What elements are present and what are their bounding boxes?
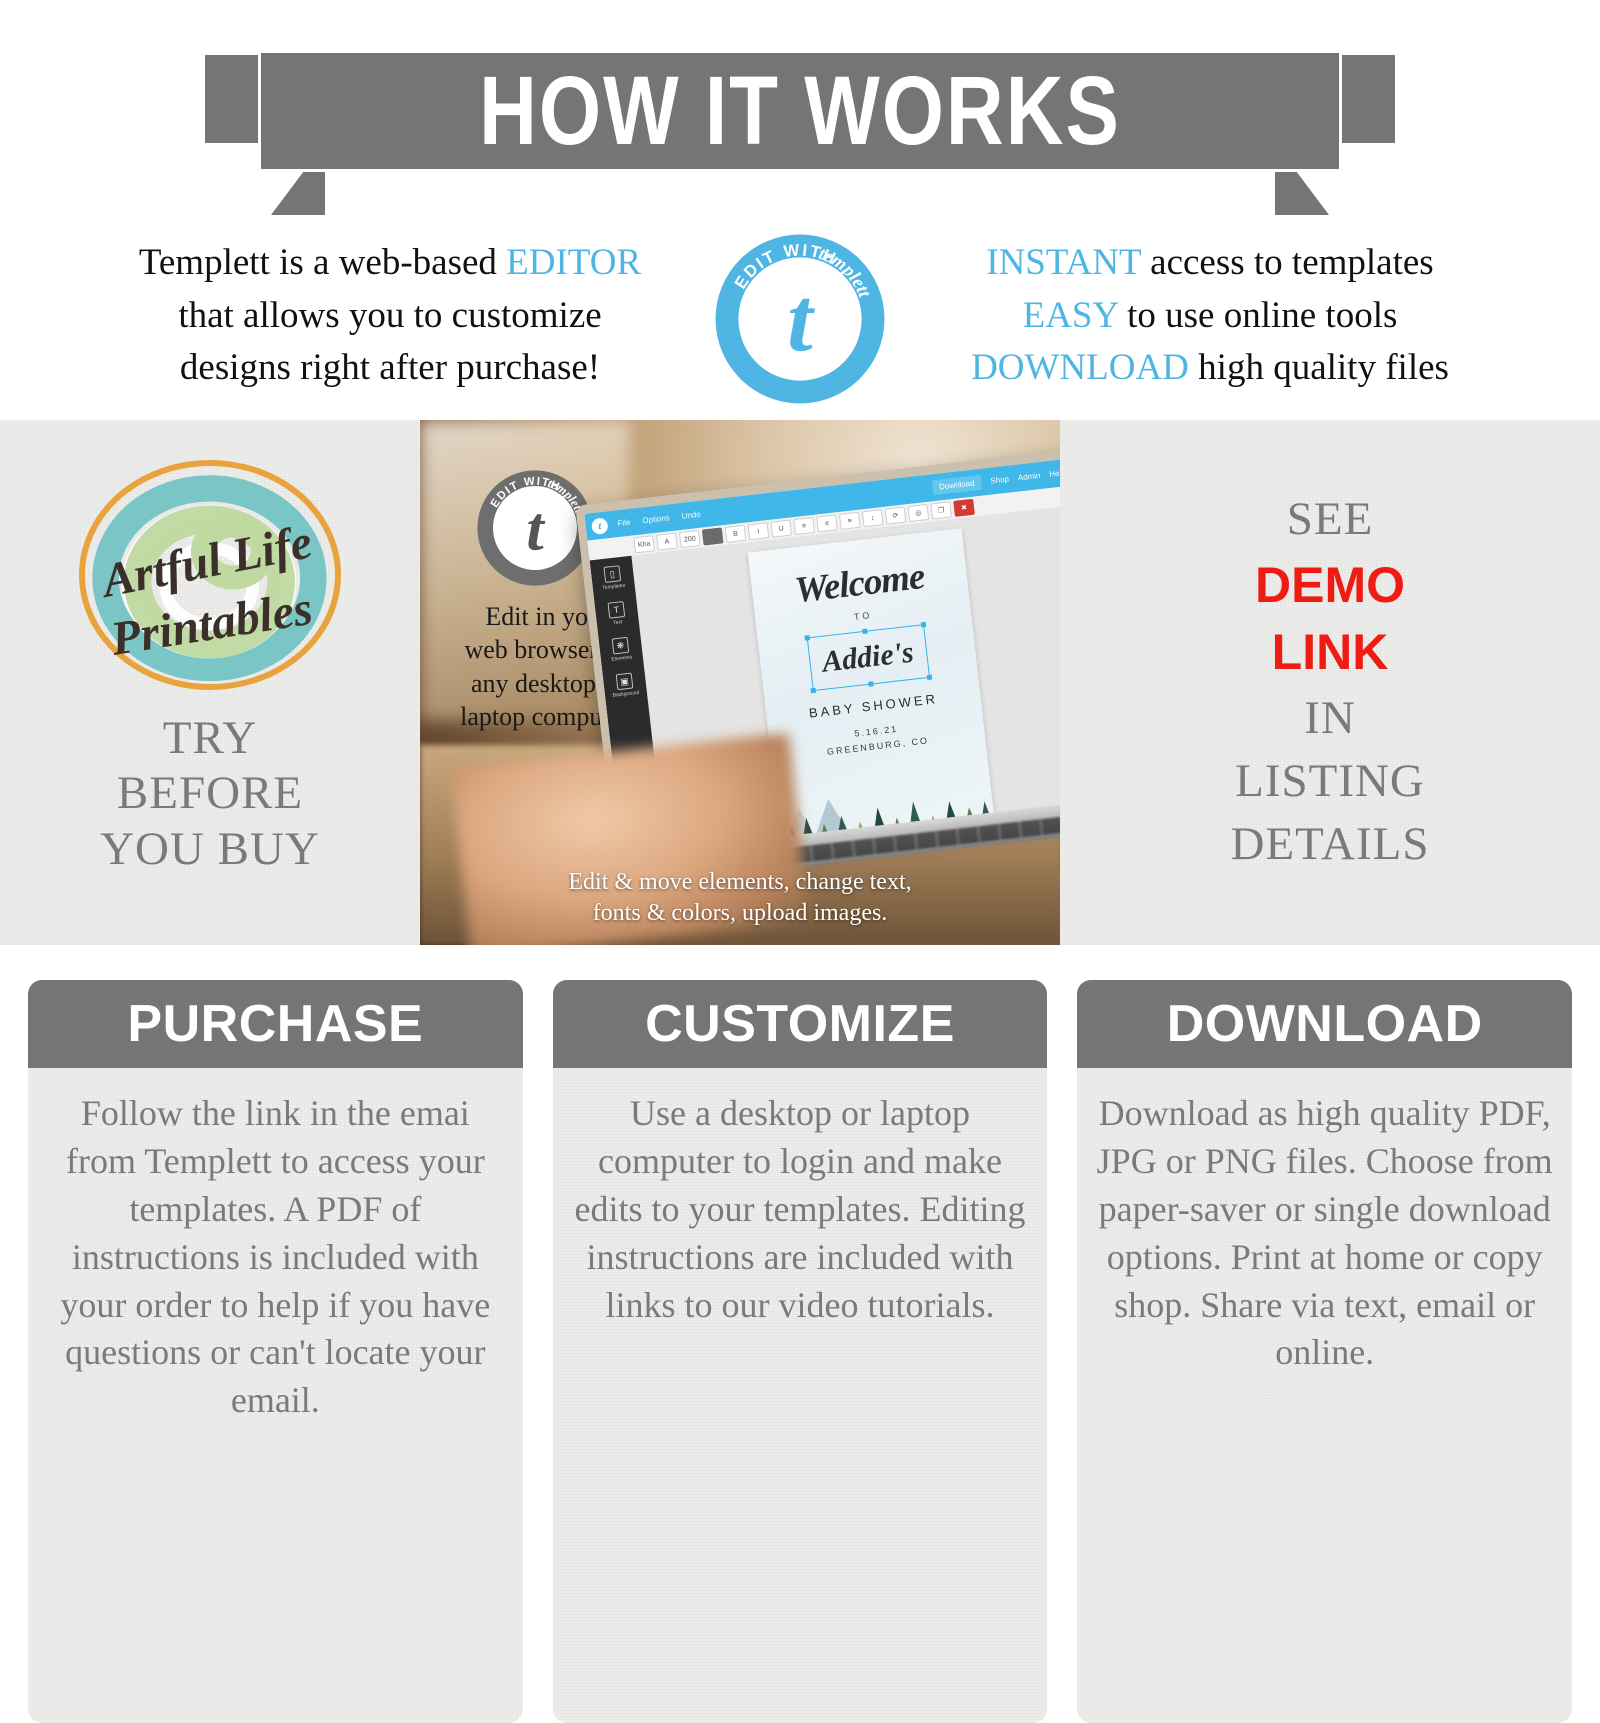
intro-left-line1: Templett is a web-based EDITOR — [80, 237, 700, 290]
sidebar-item-text[interactable]: T Text — [608, 601, 627, 627]
intro-right-line3-highlight: DOWNLOAD — [971, 347, 1189, 388]
try-line-1: TRY — [100, 711, 320, 766]
how-it-works-banner: HOW IT WORKS — [0, 0, 1600, 215]
sidebar-item-background[interactable]: ▣ Background — [610, 672, 639, 699]
step-body-purchase: Follow the link in the emai from Templet… — [28, 1068, 523, 1723]
editor-menu[interactable]: File Options Undo — [617, 510, 701, 528]
intro-left-line1-pre: Templett is a web-based — [139, 242, 506, 283]
font-size-input[interactable]: 200 — [679, 530, 701, 548]
brand-column: Artful Life Printables TRY BEFORE YOU BU… — [0, 420, 420, 945]
background-icon: ▣ — [616, 673, 634, 691]
step-title-customize: CUSTOMIZE — [645, 994, 955, 1054]
sidebar-label-templates: Templates — [602, 583, 625, 592]
try-line-2: BEFORE — [100, 766, 320, 821]
demo-line-demo: DEMO — [1255, 552, 1405, 620]
sidebar-item-templates[interactable]: ▯ Templates — [600, 565, 625, 591]
step-header-purchase: PURCHASE — [28, 980, 523, 1068]
intro-right-line2: EASY to use online tools — [900, 290, 1520, 343]
editor-logo-icon: t — [591, 517, 609, 535]
photo-caption-bottom: Edit & move elements, change text, fonts… — [480, 867, 1000, 929]
card-name-text: Addie's — [807, 625, 928, 690]
demo-line-in: IN — [1304, 687, 1356, 750]
text-icon: T — [608, 601, 626, 619]
intro-right-line3: DOWNLOAD high quality files — [900, 342, 1520, 395]
try-line-3: YOU BUY — [100, 822, 320, 877]
italic-button[interactable]: I — [748, 522, 770, 540]
demo-line-link: LINK — [1272, 619, 1389, 687]
color-swatch[interactable] — [702, 527, 724, 545]
step-card-customize: CUSTOMIZE Use a desktop or laptop comput… — [553, 980, 1048, 1723]
elements-icon: ❋ — [612, 637, 630, 655]
intro-left-text: Templett is a web-based EDITOR that allo… — [80, 215, 700, 395]
opacity-icon[interactable]: ◎ — [908, 504, 930, 522]
step-card-download: DOWNLOAD Download as high quality PDF, J… — [1077, 980, 1572, 1723]
templett-badge-icon: EDIT WITH templett EDITABLE TEMPLATE t — [712, 231, 888, 407]
align-right-icon[interactable]: ≡ — [839, 512, 861, 530]
underline-button[interactable]: U — [770, 520, 792, 538]
step-title-purchase: PURCHASE — [127, 994, 423, 1054]
intro-right-line1: INSTANT access to templates — [900, 237, 1520, 290]
templett-badge-slot: EDIT WITH templett EDITABLE TEMPLATE t — [700, 215, 900, 407]
align-left-icon[interactable]: ≡ — [793, 517, 815, 535]
svg-text:t: t — [526, 495, 545, 564]
try-before-you-buy: TRY BEFORE YOU BUY — [100, 711, 320, 877]
photo-bottom-caption-line2: fonts & colors, upload images. — [480, 898, 1000, 929]
nav-shop[interactable]: Shop — [990, 475, 1010, 486]
download-button[interactable]: Download — [931, 475, 982, 496]
intro-right-line3-rest: high quality files — [1189, 347, 1449, 388]
artful-life-printables-logo: Artful Life Printables — [70, 455, 350, 705]
step-title-download: DOWNLOAD — [1167, 994, 1483, 1054]
demo-line-details: DETAILS — [1230, 813, 1429, 876]
svg-text:t: t — [787, 269, 815, 371]
laptop-photo: EDIT WITH templett EDITABLE TEMPLATE t E… — [420, 420, 1060, 945]
page-title: HOW IT WORKS — [479, 62, 1121, 160]
nav-help[interactable]: Help — [1049, 468, 1060, 479]
card-name-selection-box[interactable]: Addie's — [806, 624, 929, 691]
handle-top-right[interactable] — [920, 622, 926, 628]
steps-section: PURCHASE Follow the link in the emai fro… — [0, 945, 1600, 1723]
line-height-icon[interactable]: ↕ — [862, 509, 884, 527]
handle-top-center[interactable] — [862, 629, 868, 635]
menu-file[interactable]: File — [617, 518, 631, 528]
font-family-select[interactable]: Kha — [633, 535, 655, 553]
intro-right-line1-rest: access to templates — [1141, 242, 1434, 283]
demo-link-column: SEE DEMO LINK IN LISTING DETAILS — [1060, 420, 1600, 945]
sidebar-label-text: Text — [613, 619, 623, 626]
intro-right-line1-highlight: INSTANT — [986, 242, 1141, 283]
demo-line-listing: LISTING — [1235, 750, 1425, 813]
rotate-icon[interactable]: ⟳ — [885, 507, 907, 525]
sidebar-label-background: Background — [612, 690, 639, 699]
intro-right-line2-rest: to use online tools — [1118, 295, 1398, 336]
intro-left-line2: that allows you to customize — [80, 290, 700, 343]
middle-section: Artful Life Printables TRY BEFORE YOU BU… — [0, 420, 1600, 945]
menu-undo[interactable]: Undo — [681, 510, 701, 521]
handle-bottom-center[interactable] — [868, 681, 874, 687]
ribbon-body: HOW IT WORKS — [258, 50, 1342, 172]
handle-bottom-left[interactable] — [810, 688, 816, 694]
intro-left-line1-highlight: EDITOR — [506, 242, 641, 283]
step-card-purchase: PURCHASE Follow the link in the emai fro… — [28, 980, 523, 1723]
intro-section: Templett is a web-based EDITOR that allo… — [0, 215, 1600, 420]
handle-bottom-right[interactable] — [926, 675, 932, 681]
intro-right-line2-highlight: EASY — [1023, 295, 1118, 336]
delete-icon[interactable]: ✖ — [953, 499, 975, 517]
menu-options[interactable]: Options — [642, 513, 670, 525]
step-body-customize: Use a desktop or laptop computer to logi… — [553, 1068, 1048, 1723]
nav-admin[interactable]: Admin — [1017, 471, 1041, 483]
demo-line-see: SEE — [1287, 488, 1374, 551]
handle-top-left[interactable] — [804, 635, 810, 641]
sidebar-item-elements[interactable]: ❋ Elements — [609, 636, 632, 662]
step-header-customize: CUSTOMIZE — [553, 980, 1048, 1068]
align-center-icon[interactable]: ≡ — [816, 514, 838, 532]
photo-bottom-caption-line1: Edit & move elements, change text, — [480, 867, 1000, 898]
intro-right-text: INSTANT access to templates EASY to use … — [900, 215, 1520, 395]
templates-icon: ▯ — [603, 565, 621, 583]
bold-button[interactable]: B — [725, 525, 747, 543]
step-body-download: Download as high quality PDF, JPG or PNG… — [1077, 1068, 1572, 1723]
step-header-download: DOWNLOAD — [1077, 980, 1572, 1068]
sidebar-label-elements: Elements — [611, 654, 632, 662]
font-color-icon[interactable]: A — [656, 533, 678, 551]
duplicate-icon[interactable]: ❐ — [930, 501, 952, 519]
intro-left-line3: designs right after purchase! — [80, 342, 700, 395]
